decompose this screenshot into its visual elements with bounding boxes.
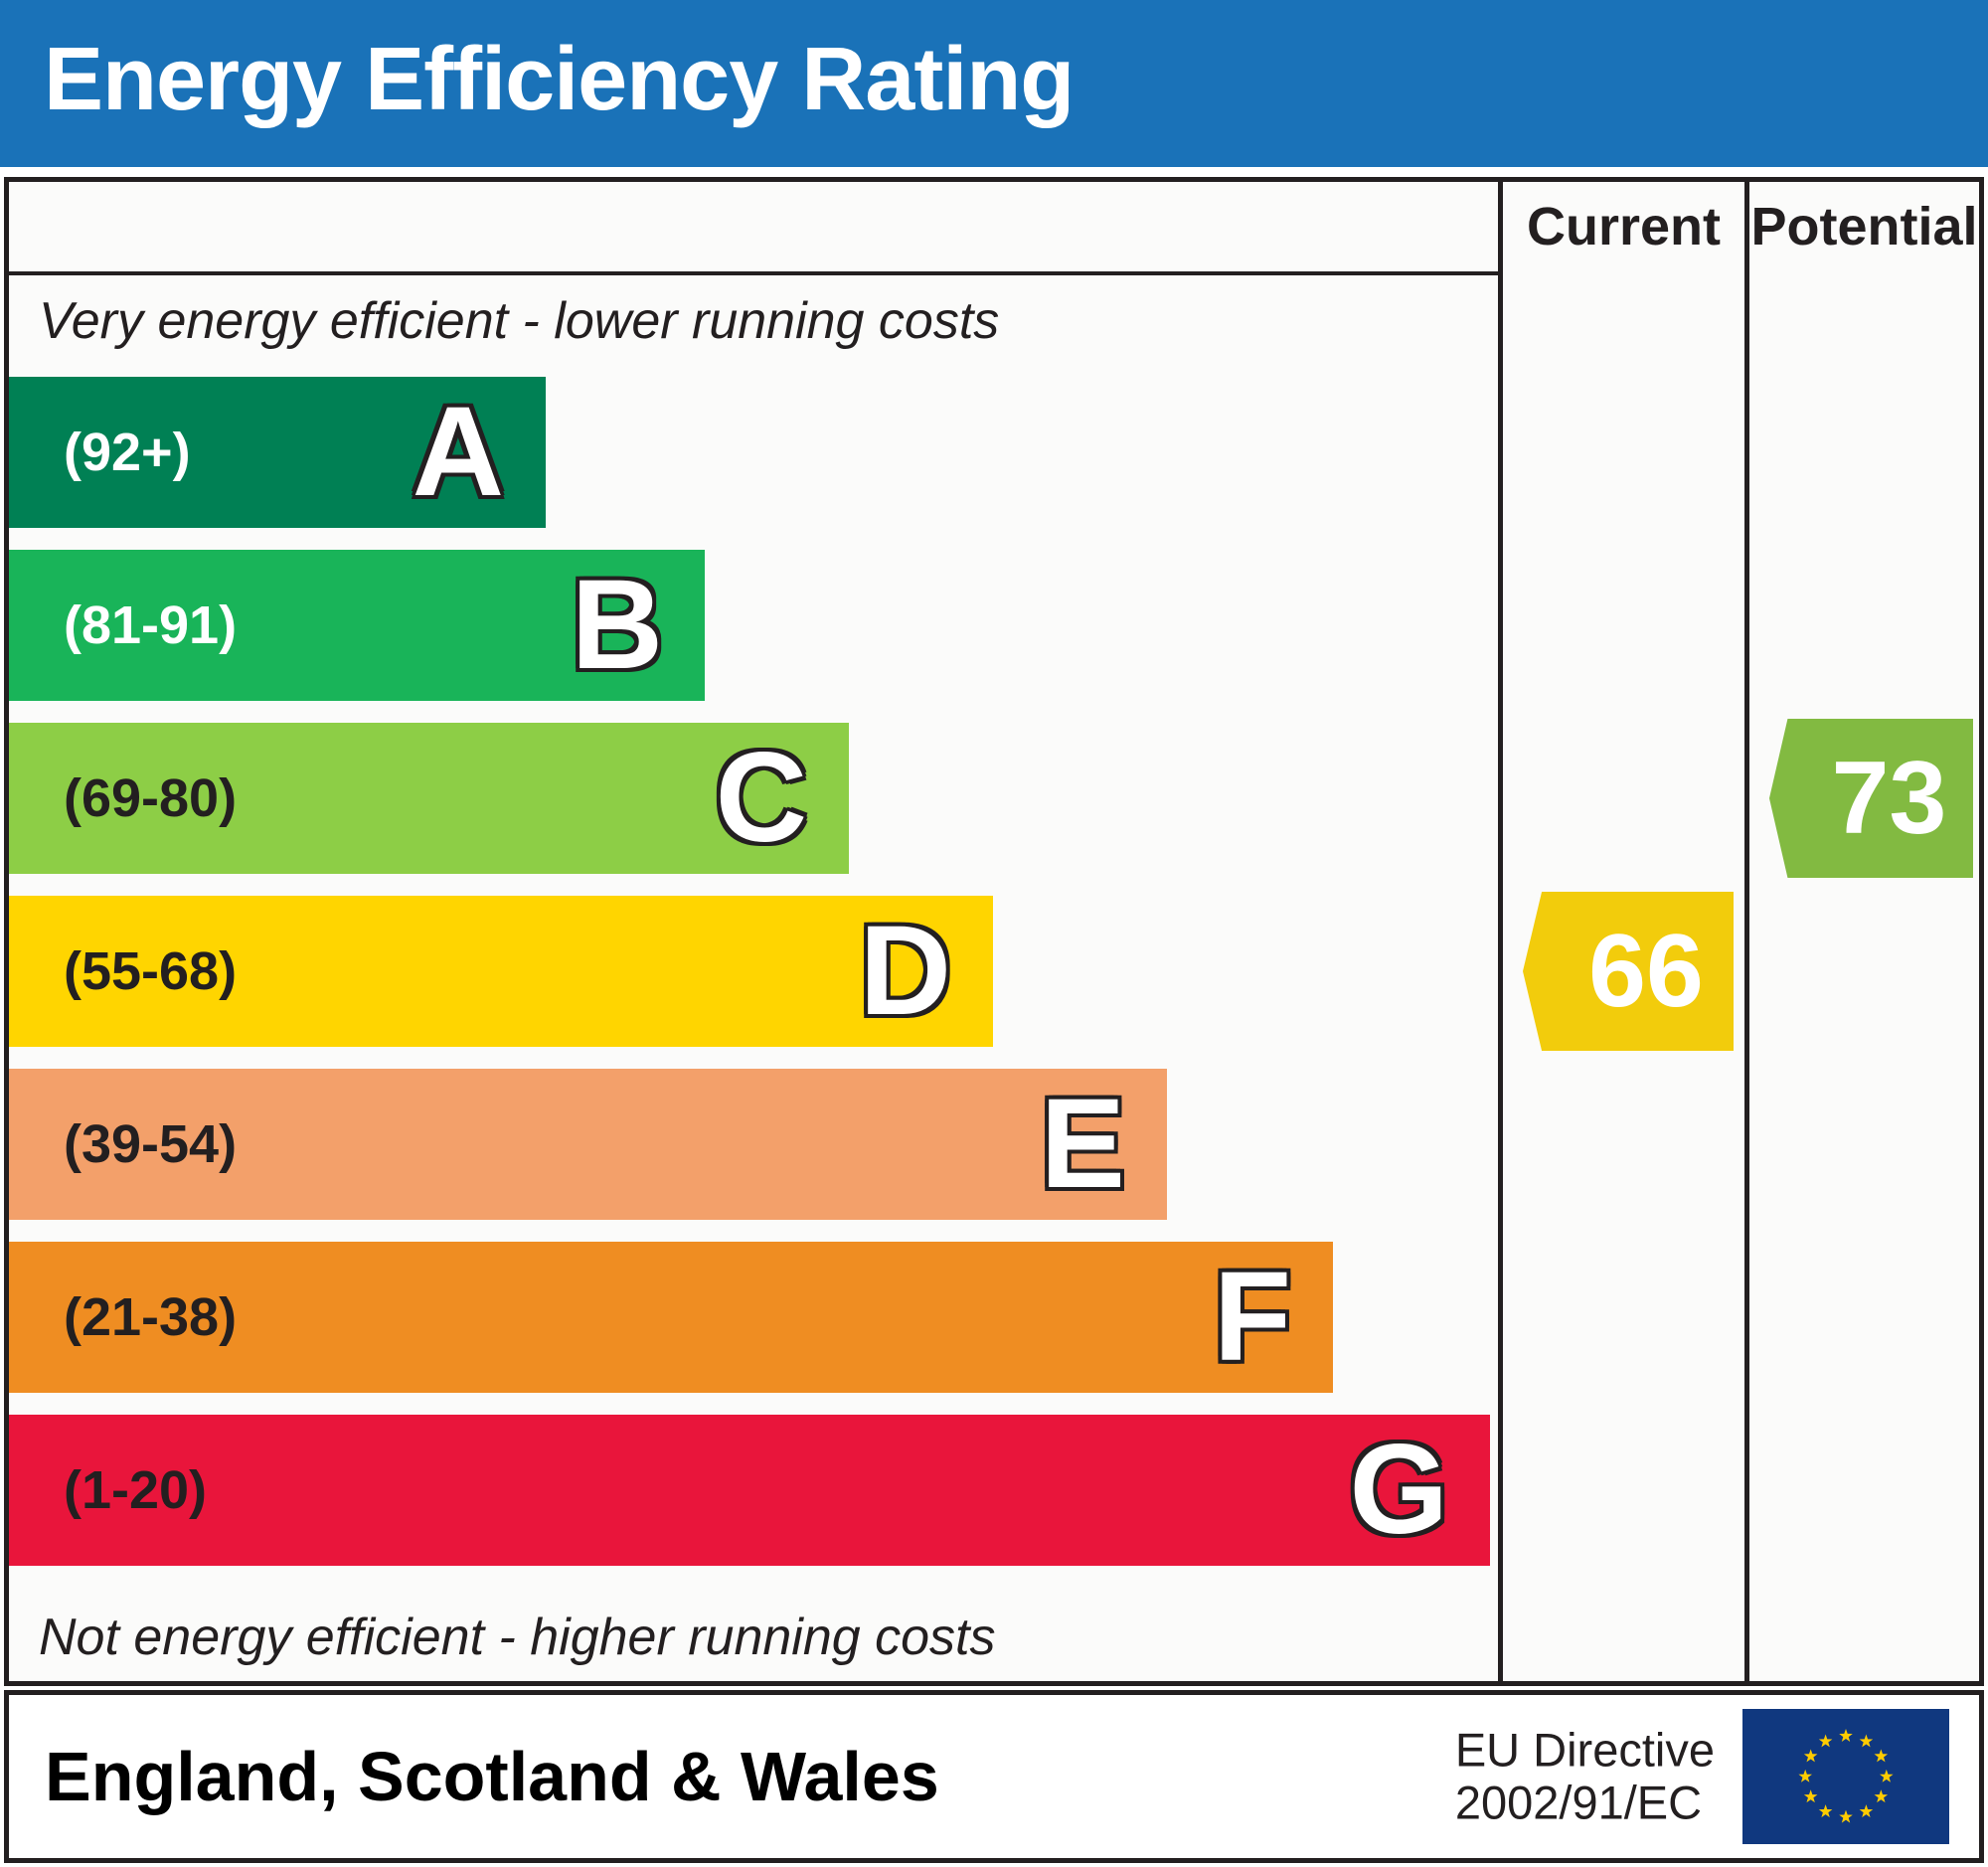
eu-directive-line1: EU Directive (1455, 1724, 1715, 1777)
band-letter-d: D (860, 908, 951, 1035)
band-range-g: (1-20) (64, 1459, 207, 1521)
band-range-c: (69-80) (64, 767, 237, 829)
band-letter-g: G (1349, 1427, 1448, 1554)
eu-directive-text: EU Directive 2002/91/EC (1455, 1724, 1715, 1828)
top-note: Very energy efficient - lower running co… (39, 291, 999, 351)
band-row-c: (69-80)C (9, 723, 849, 874)
band-list: (92+)A(81-91)B(69-80)C(55-68)D(39-54)E(2… (9, 377, 1498, 1592)
band-row-d: (55-68)D (9, 896, 993, 1047)
band-letter-f: F (1214, 1254, 1291, 1381)
column-header-current: Current (1503, 182, 1744, 271)
band-range-f: (21-38) (64, 1286, 237, 1348)
band-letter-a: A (413, 389, 504, 516)
current-rating-arrow: 66 (1523, 892, 1734, 1051)
column-header-potential: Potential (1749, 182, 1979, 271)
eu-flag-icon (1740, 1707, 1951, 1846)
band-letter-e: E (1041, 1081, 1125, 1208)
band-range-b: (81-91) (64, 594, 237, 656)
potential-rating-arrow: 73 (1769, 719, 1973, 878)
bottom-note: Not energy efficient - higher running co… (39, 1608, 996, 1667)
rating-table: Current Potential Very energy efficient … (4, 177, 1984, 1686)
band-range-a: (92+) (64, 422, 191, 483)
page-title: Energy Efficiency Rating (44, 20, 1074, 139)
band-row-g: (1-20)G (9, 1415, 1490, 1566)
eu-directive-line2: 2002/91/EC (1455, 1777, 1715, 1829)
current-rating-value: 66 (1553, 920, 1704, 1023)
band-letter-c: C (716, 735, 807, 862)
footer-bar: England, Scotland & Wales EU Directive 2… (4, 1690, 1984, 1863)
band-row-b: (81-91)B (9, 550, 705, 701)
energy-efficiency-certificate: Energy Efficiency Rating Current Potenti… (0, 0, 1988, 1867)
band-range-e: (39-54) (64, 1113, 237, 1175)
band-row-e: (39-54)E (9, 1069, 1167, 1220)
band-letter-b: B (572, 562, 663, 689)
potential-column-divider (1744, 182, 1749, 1681)
band-range-d: (55-68) (64, 940, 237, 1002)
region-label: England, Scotland & Wales (45, 1737, 939, 1816)
title-bar: Energy Efficiency Rating (0, 0, 1988, 167)
potential-rating-value: 73 (1796, 747, 1947, 850)
band-row-a: (92+)A (9, 377, 546, 528)
band-row-f: (21-38)F (9, 1242, 1333, 1393)
current-column-divider (1498, 182, 1503, 1681)
band-chart-area: Very energy efficient - lower running co… (9, 275, 1498, 1681)
